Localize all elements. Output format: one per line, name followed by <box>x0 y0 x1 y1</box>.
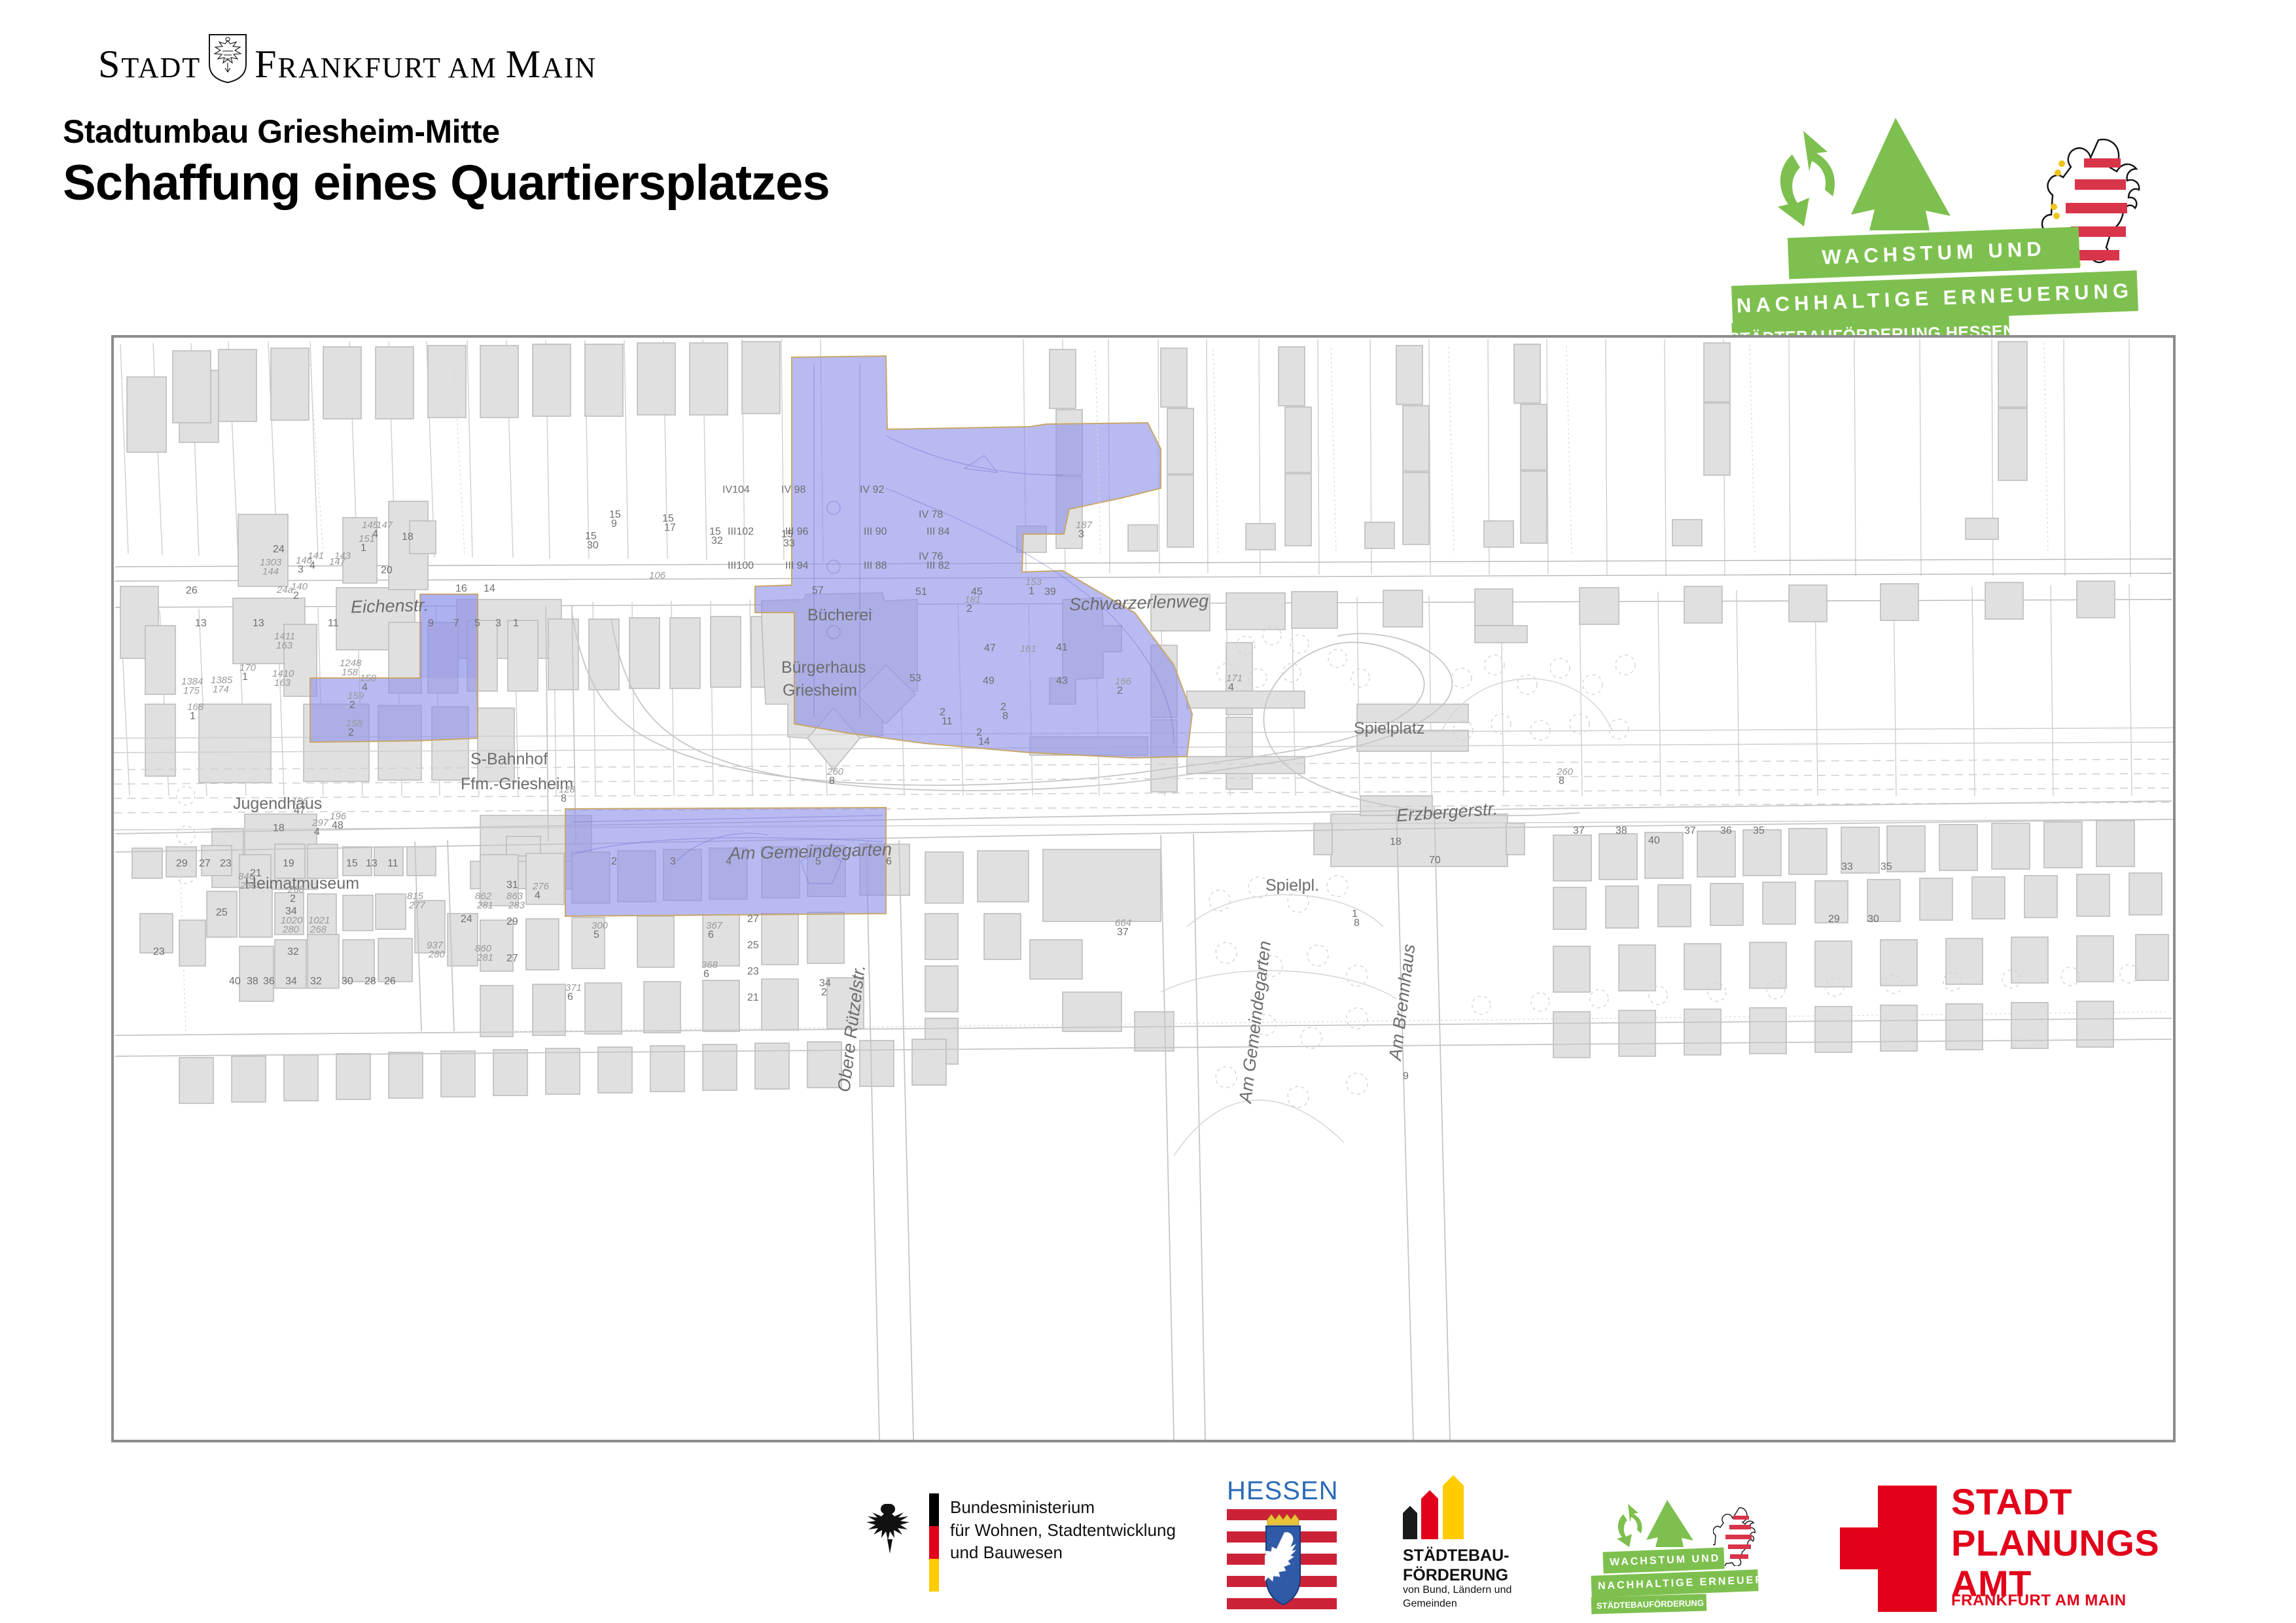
staedtebau-line3: von Bund, Ländern und <box>1403 1584 1511 1597</box>
wachstum-erneuerung-footer-logo: WACHSTUM UND NACHHALTIGE ERNEUERUNG STÄD… <box>1603 1472 1799 1623</box>
hessen-logo: HESSEN <box>1214 1472 1358 1623</box>
stadtplanungsamt-mark-icon <box>1839 1484 1937 1612</box>
house-red-icon <box>1421 1499 1438 1539</box>
footer-band-nachhaltige: NACHHALTIGE ERNEUERUNG <box>1591 1569 1758 1597</box>
house-yellow-icon <box>1443 1486 1464 1539</box>
map-canvas: BüchereiBürgerhausGriesheimSpielplatzS-B… <box>114 338 2173 1440</box>
recycling-arrow-tree-icon <box>1610 1497 1714 1556</box>
bmwsb-line1: Bundesministerium <box>950 1496 1176 1519</box>
staedtebau-line1: STÄDTEBAU- <box>1403 1546 1510 1565</box>
staedtebau-title: STÄDTEBAU- FÖRDERUNG <box>1403 1546 1510 1585</box>
stadtplanungsamt-logo: STADT PLANUNGS AMT FRANKFURT AM MAIN <box>1832 1472 2199 1623</box>
german-flag-bar <box>929 1493 939 1592</box>
bmwsb-name: Bundesministerium für Wohnen, Stadtentwi… <box>950 1496 1176 1564</box>
spa-subtitle: FRANKFURT AM MAIN <box>1951 1592 2127 1610</box>
project-subtitle: Stadtumbau Griesheim-Mitte <box>63 115 830 149</box>
house-black-icon <box>1403 1513 1417 1539</box>
city-of-frankfurt-logo: SSTADTTADT FRANKFURT AM MAIN <box>98 31 517 84</box>
federal-eagle-icon <box>864 1500 916 1560</box>
bmwsb-line2: für Wohnen, Stadtentwicklung <box>950 1519 1176 1542</box>
spa-line1: STADT <box>1951 1482 2159 1523</box>
cadastral-map[interactable]: BüchereiBürgerhausGriesheimSpielplatzS-B… <box>111 335 2176 1442</box>
frankfurt-eagle-icon <box>207 33 248 84</box>
bmwsb-line3: und Bauwesen <box>950 1541 1176 1564</box>
hessen-label: HESSEN <box>1227 1476 1339 1506</box>
hessen-flag-icon <box>1227 1509 1337 1613</box>
footer-band-wachstum: WACHSTUM UND <box>1602 1547 1724 1573</box>
page-footer: Bundesministerium für Wohnen, Stadtentwi… <box>0 1472 2296 1623</box>
footer-band-staedtebaufoerderung: STÄDTEBAUFÖRDERUNG HESSEN <box>1591 1594 1707 1614</box>
bmwsb-logo: Bundesministerium für Wohnen, Stadtentwi… <box>864 1472 1204 1623</box>
hessen-coat-of-arms-icon <box>1265 1514 1301 1606</box>
spa-line2: PLANUNGS <box>1951 1523 2159 1564</box>
staedtebau-subtitle: von Bund, Ländern und Gemeinden <box>1403 1584 1511 1611</box>
city-wordmark-frankfurt: FRANKFURT AM MAIN <box>255 45 597 84</box>
page-title: Schaffung eines Quartiersplatzes <box>63 154 830 211</box>
title-block: Stadtumbau Griesheim-Mitte Schaffung ein… <box>63 115 830 211</box>
staedtebaufoerderung-logo: STÄDTEBAU- FÖRDERUNG von Bund, Ländern u… <box>1387 1472 1623 1623</box>
city-wordmark-stadt: SSTADTTADT <box>98 45 201 84</box>
stadtplanungsamt-title: STADT PLANUNGS AMT <box>1951 1482 2159 1605</box>
staedtebau-line4: Gemeinden <box>1403 1597 1511 1611</box>
staedtebau-line2: FÖRDERUNG <box>1403 1565 1510 1585</box>
map-vector-layer <box>114 338 2173 1440</box>
page-header: SSTADTTADT FRANKFURT AM MAIN Stadtumbau … <box>0 0 2296 327</box>
